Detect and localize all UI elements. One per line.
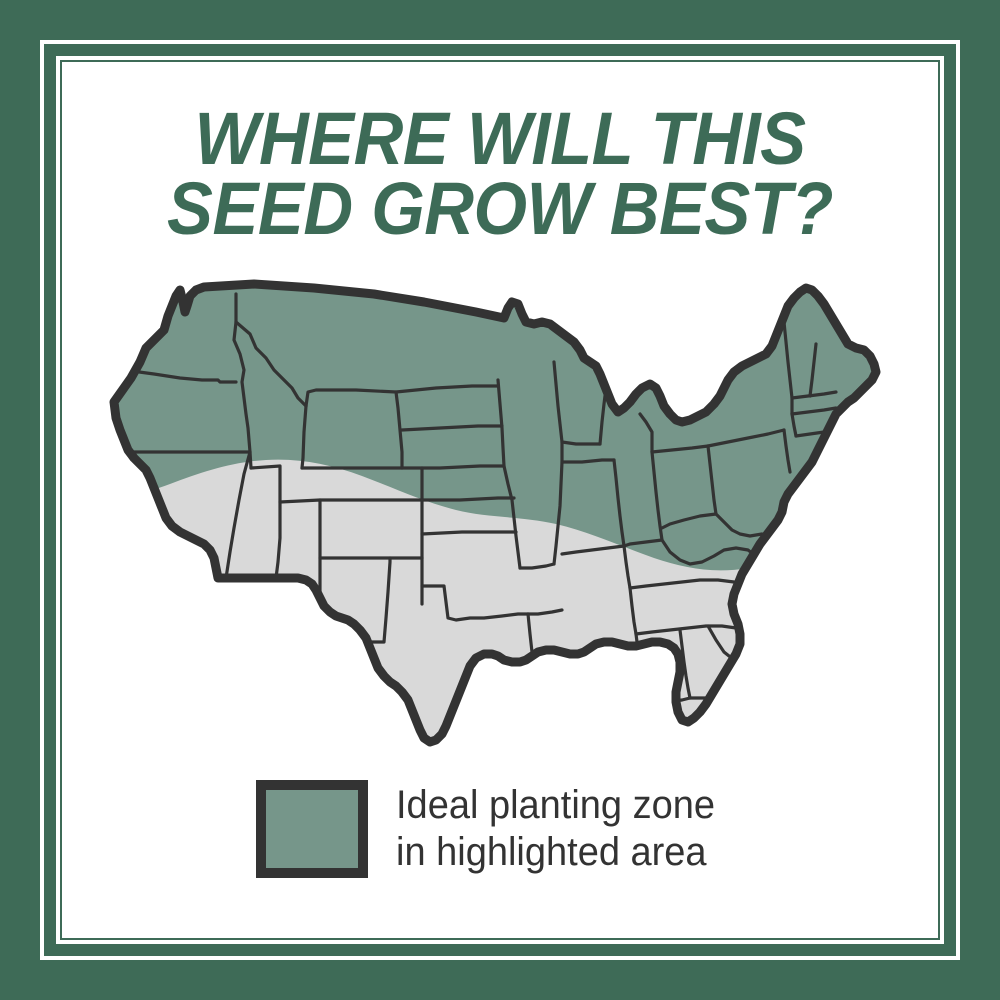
page-title-line-2: SEED GROW BEST? — [93, 174, 908, 244]
legend-label: Ideal planting zone in highlighted area — [396, 782, 715, 876]
poster: WHERE WILL THIS SEED GROW BEST? — [0, 0, 1000, 1000]
legend-label-line-2: in highlighted area — [396, 829, 715, 876]
legend-swatch-ideal-zone — [256, 780, 368, 878]
legend-label-line-1: Ideal planting zone — [396, 782, 715, 829]
page-title-line-1: WHERE WILL THIS — [93, 104, 908, 174]
us-map-svg — [84, 262, 916, 762]
map-legend: Ideal planting zone in highlighted area — [256, 780, 732, 878]
poster-canvas: WHERE WILL THIS SEED GROW BEST? — [62, 62, 938, 938]
page-title: WHERE WILL THIS SEED GROW BEST? — [93, 104, 908, 243]
us-planting-zone-map — [84, 262, 916, 762]
